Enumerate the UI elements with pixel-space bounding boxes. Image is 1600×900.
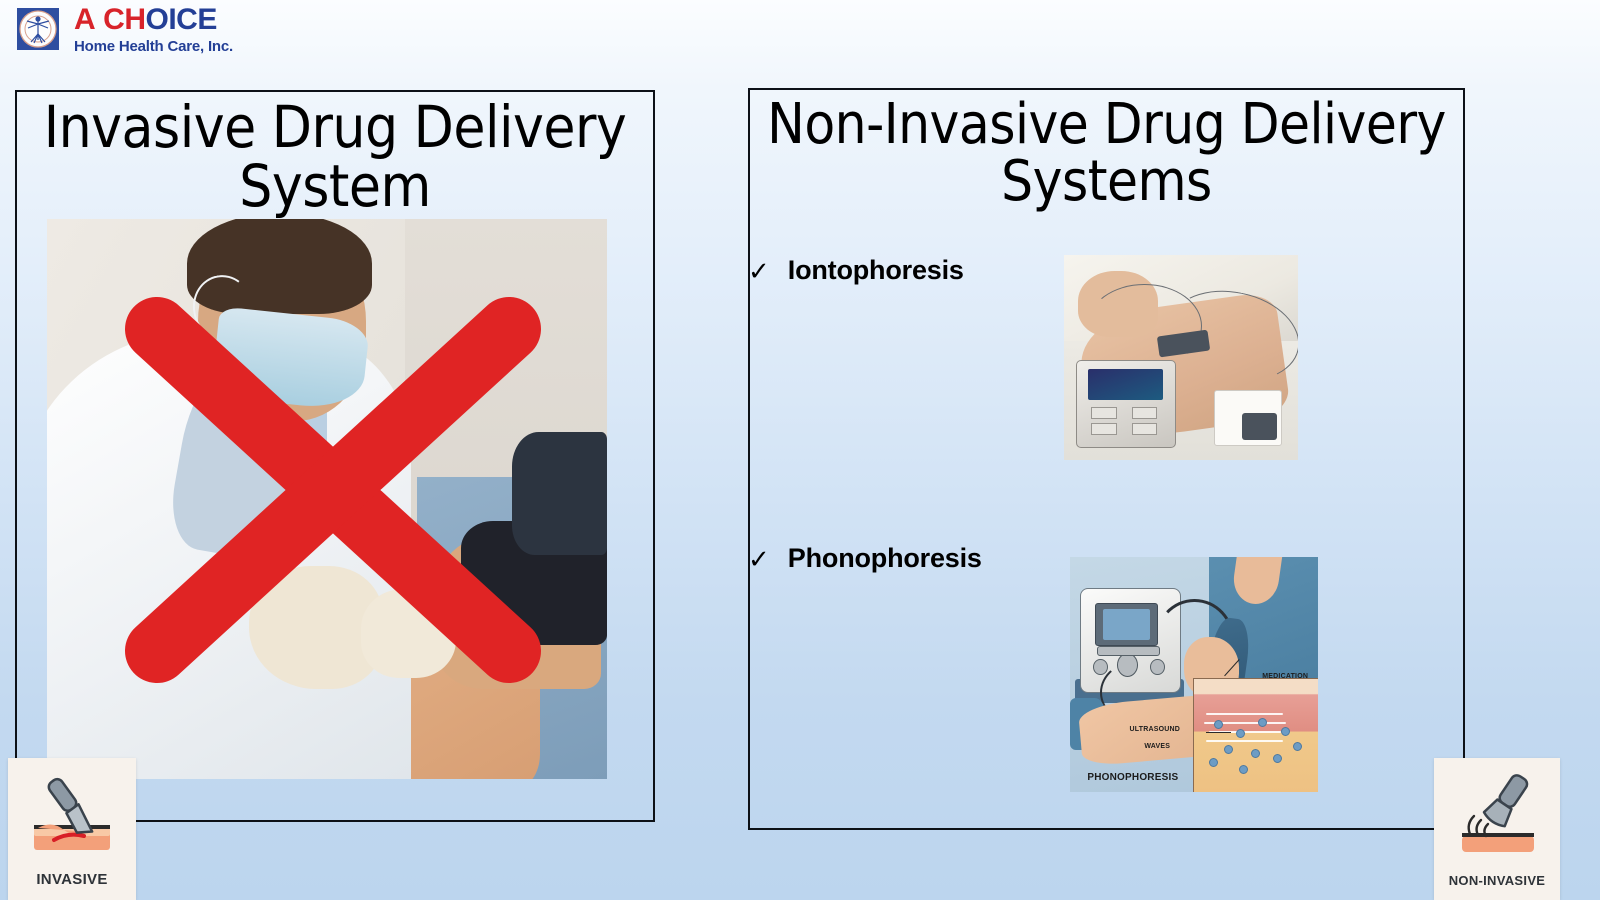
phono-medication-particle <box>1214 720 1223 729</box>
invasive-panel-title: Invasive Drug Delivery System <box>17 92 653 216</box>
ionto-down-button-right[interactable] <box>1132 423 1158 435</box>
logo-title-ch: CH <box>103 3 145 36</box>
bullet-label-iontophoresis: Iontophoresis <box>788 255 964 286</box>
company-logo: ACHOICE Home Health Care, Inc. <box>14 4 233 54</box>
phono-medication-particle <box>1209 758 1218 767</box>
ionto-up-button-left[interactable] <box>1091 407 1117 419</box>
bullet-item-phonophoresis: ✓ Phonophoresis <box>748 543 982 574</box>
bullet-item-iontophoresis: ✓ Iontophoresis <box>748 255 964 286</box>
phono-medication-particle <box>1273 754 1282 763</box>
phono-wave-1 <box>1206 713 1283 715</box>
scalpel-cutting-skin-icon <box>8 766 136 862</box>
logo-title-a: A <box>74 3 95 36</box>
badge-invasive-caption: INVASIVE <box>8 871 136 888</box>
phono-medication-particle <box>1251 749 1260 758</box>
photo-patient-top <box>512 432 607 555</box>
phono-leader-ultrasound <box>1206 732 1231 733</box>
invasive-panel: Invasive Drug Delivery System <box>15 90 655 822</box>
phono-label-ultrasound-waves-2: WAVES <box>1144 743 1170 750</box>
ultrasound-probe-on-skin-icon <box>1434 766 1560 862</box>
phono-medication-particle <box>1239 765 1248 774</box>
checkmark-icon: ✓ <box>748 258 770 284</box>
doctor-injection-photo <box>47 219 607 779</box>
phono-medication-particle <box>1236 729 1245 738</box>
logo-title-oice: OICE <box>146 3 217 36</box>
ionto-up-button-right[interactable] <box>1132 407 1158 419</box>
phono-label-title: PHONOPHORESIS <box>1087 772 1178 783</box>
phono-label-ultrasound-waves-1: ULTRASOUND <box>1130 726 1180 733</box>
logo-title: ACHOICE <box>74 5 233 35</box>
photo-gloved-hand-right <box>361 589 456 679</box>
phono-skin-cross-section <box>1193 678 1318 792</box>
bullet-label-phonophoresis: Phonophoresis <box>788 543 982 574</box>
phono-machine-button-row[interactable] <box>1097 646 1160 655</box>
vitruvian-man-logo-icon <box>14 4 64 54</box>
logo-subtitle: Home Health Care, Inc. <box>74 39 233 54</box>
badge-non-invasive-caption: NON-INVASIVE <box>1434 873 1560 888</box>
ionto-electrode-clip <box>1242 413 1277 440</box>
iontophoresis-photo <box>1064 255 1298 460</box>
phono-label-medication: MEDICATION <box>1262 673 1308 680</box>
badge-invasive: INVASIVE <box>8 758 136 900</box>
phono-machine-screen <box>1095 603 1158 646</box>
ionto-controller-screen <box>1088 369 1163 400</box>
phono-machine-knob-left[interactable] <box>1093 659 1108 675</box>
phono-wave-4 <box>1206 740 1283 742</box>
non-invasive-panel-title: Non-Invasive Drug Delivery Systems <box>750 90 1463 210</box>
phono-medication-particle <box>1293 742 1302 751</box>
phono-medication-particle <box>1258 718 1267 727</box>
logo-wordmark: ACHOICE Home Health Care, Inc. <box>74 5 233 54</box>
ionto-controller-device <box>1076 360 1176 448</box>
badge-non-invasive: NON-INVASIVE <box>1434 758 1560 900</box>
ionto-down-button-left[interactable] <box>1091 423 1117 435</box>
checkmark-icon: ✓ <box>748 546 770 572</box>
phonophoresis-illustration: MEDICATION ULTRASOUND WAVES PHONOPHORESI… <box>1070 557 1318 792</box>
phono-medication-particle <box>1281 727 1290 736</box>
phono-medication-particle <box>1224 745 1233 754</box>
